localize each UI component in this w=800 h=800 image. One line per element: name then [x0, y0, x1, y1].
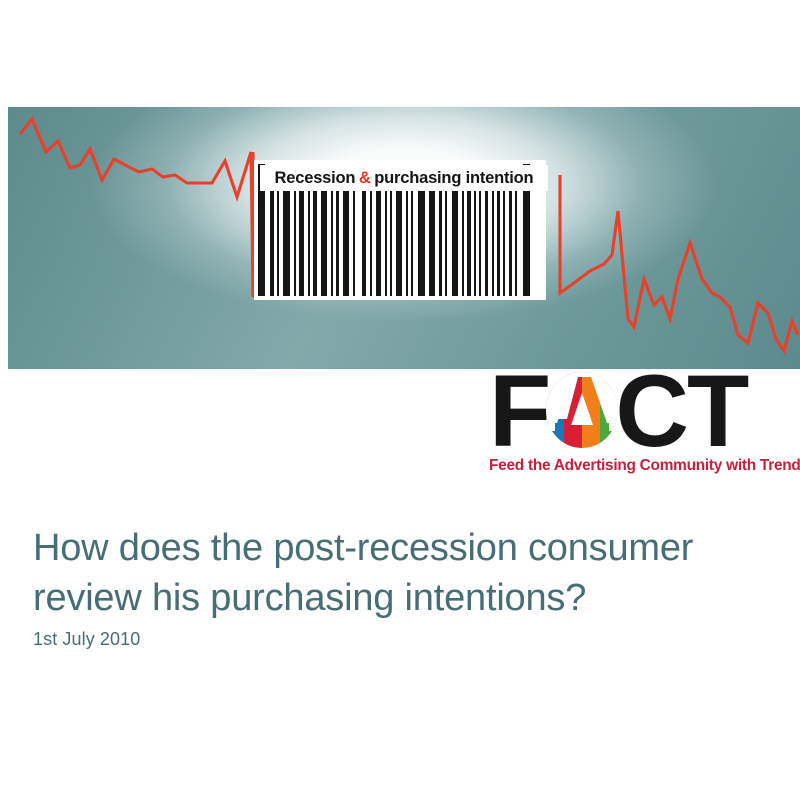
barcode-graphic: Recession & purchasing intention [240, 160, 560, 300]
logo-letter-f: F [489, 369, 549, 453]
logo-letter-c: C [615, 369, 687, 453]
fact-logo: F [489, 369, 792, 479]
barcode-caption-prefix: Recession [275, 169, 356, 188]
recession-banner-image: Recession & purchasing intention [8, 107, 800, 369]
logo-letter-t: T [687, 369, 747, 453]
barcode-caption-ampersand: & [359, 169, 371, 188]
page-date: 1st July 2010 [33, 629, 140, 650]
fact-logo-mark: F [489, 369, 792, 453]
logo-letter-a-icon [545, 371, 619, 449]
slide-canvas: Recession & purchasing intention F [0, 0, 800, 800]
trend-line-right [560, 175, 798, 351]
barcode-caption-suffix: purchasing intention [374, 169, 533, 188]
trend-line-left [20, 119, 253, 292]
page-title: How does the post-recession consumer rev… [33, 523, 763, 623]
logo-a-circle-segments [545, 371, 619, 449]
barcode-caption: Recession & purchasing intention [260, 165, 548, 191]
